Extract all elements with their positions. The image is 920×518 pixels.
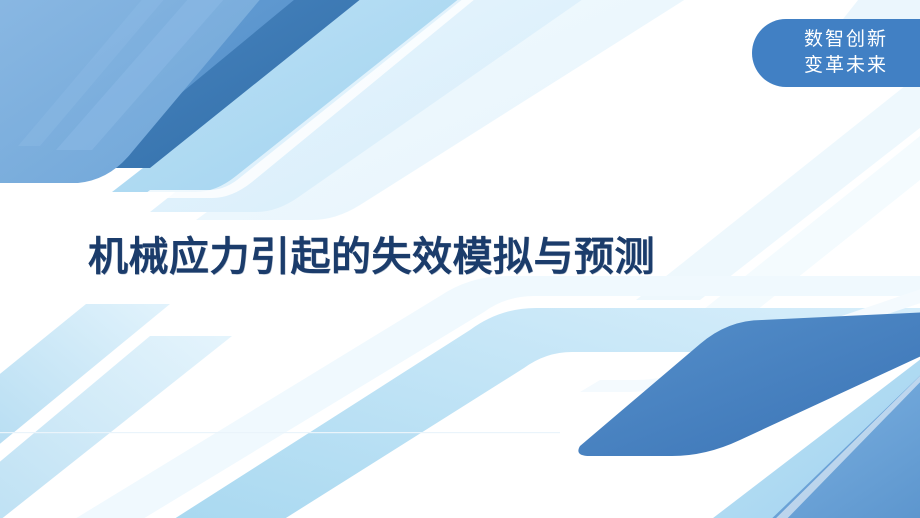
badge-line-1: 数智创新 [804,27,888,53]
slide-canvas: 数智创新 变革未来 机械应力引起的失效模拟与预测 [0,0,920,518]
decor-bottom-hairline [0,432,560,433]
corner-badge: 数智创新 变革未来 [752,19,920,87]
badge-line-2: 变革未来 [804,53,888,79]
page-title: 机械应力引起的失效模拟与预测 [88,231,808,283]
